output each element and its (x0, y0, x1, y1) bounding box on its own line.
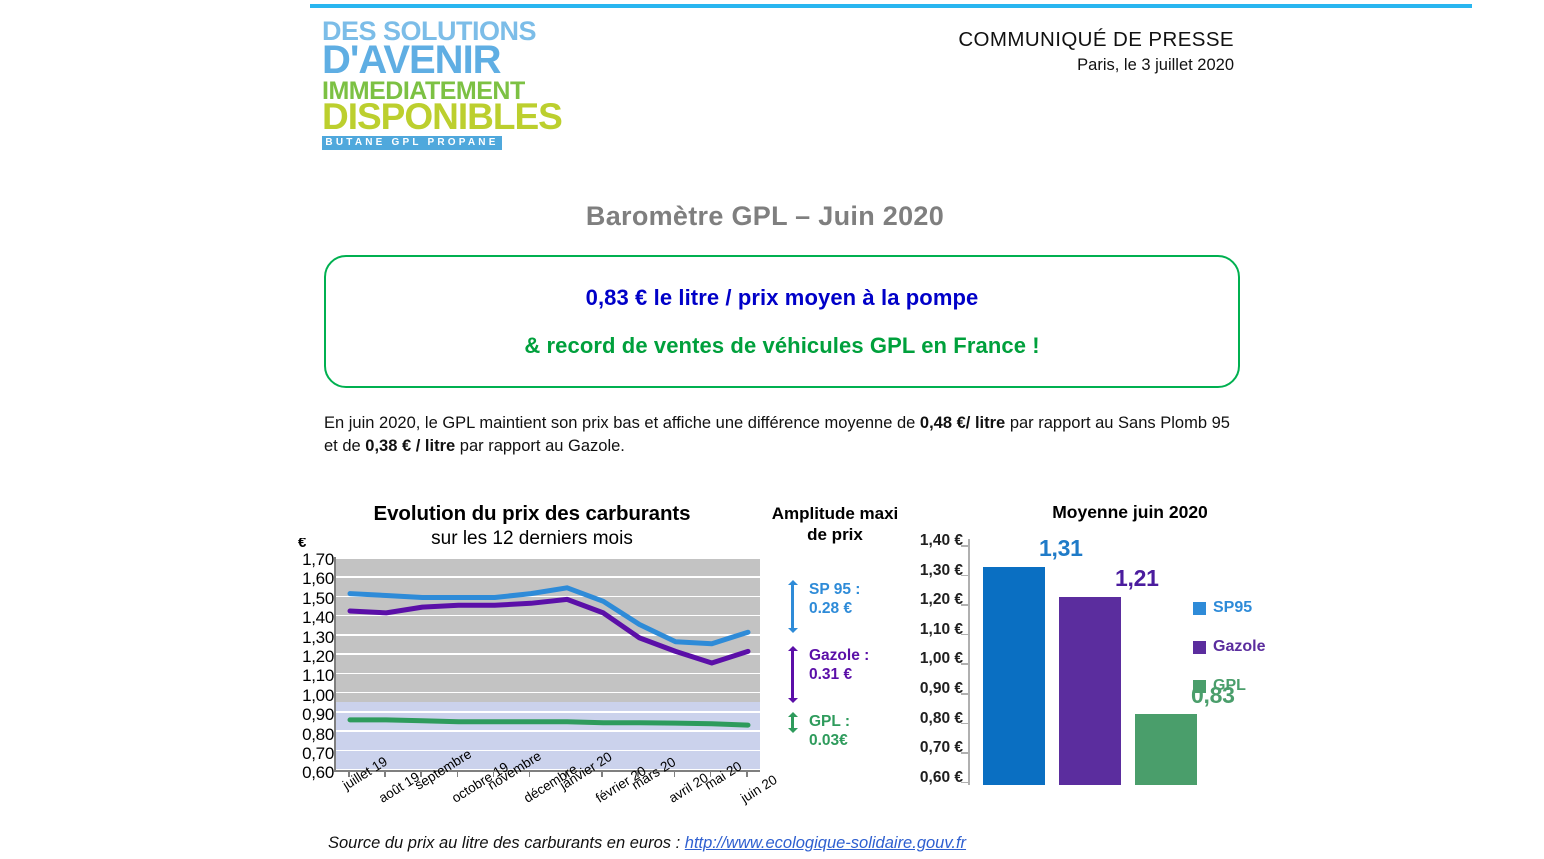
paragraph-text: En juin 2020, le GPL maintient son prix … (324, 414, 920, 432)
x-tick (529, 770, 531, 777)
line-chart-title: Evolution du prix des carburants (286, 502, 778, 526)
amplitude-title-line2: de prix (807, 525, 863, 544)
y-tick-label: 0,90 € (895, 681, 963, 697)
y-tick-label: 1,60 (286, 570, 334, 587)
y-tick-label: 0,70 (286, 745, 334, 762)
press-release-label: COMMUNIQUÉ DE PRESSE (958, 28, 1234, 52)
y-tick-label: 0,70 € (895, 740, 963, 756)
source-prefix: Source du prix au litre des carburants e… (328, 834, 685, 852)
arrow-shaft (791, 584, 794, 630)
y-tick (961, 634, 969, 636)
legend-label: Gazole (1213, 638, 1265, 656)
bar-chart: Moyenne juin 2020 1,40 €1,30 €1,20 €1,10… (895, 495, 1315, 815)
line-chart-x-labels: juillet 19août 19septembreoctobre 19nove… (286, 777, 778, 839)
arrow-head-down-icon (788, 728, 798, 733)
y-tick-label: 1,10 € (895, 622, 963, 638)
y-tick-label: 1,50 (286, 590, 334, 607)
double-arrow-icon (786, 713, 800, 733)
bar-chart-y-axis: 1,40 €1,30 €1,20 €1,10 €1,00 €0,90 €0,80… (895, 533, 963, 783)
intro-paragraph: En juin 2020, le GPL maintient son prix … (324, 412, 1240, 459)
y-tick-label: 1,20 (286, 648, 334, 665)
line-chart-subtitle: sur les 12 derniers mois (286, 528, 778, 550)
amplitude-legend: Amplitude maxi de prix SP 95 :0.28 €Gazo… (760, 495, 910, 755)
y-tick-label: 0,90 (286, 706, 334, 723)
arrow-head-down-icon (788, 698, 798, 703)
y-tick (961, 575, 969, 577)
line-series-sp95 (350, 588, 748, 644)
line-chart-plot-area (336, 557, 760, 769)
amplitude-item-value: 0.28 € (809, 600, 860, 619)
line-chart-y-axis-unit: € (298, 538, 306, 550)
y-tick (961, 693, 969, 695)
y-tick-label: 1,20 € (895, 592, 963, 608)
bar-gazole (1059, 597, 1121, 785)
logo-banner: BUTANE GPL PROPANE (322, 136, 502, 150)
line-series-gpl (350, 720, 748, 725)
bar-value-label: 1,31 (1039, 535, 1083, 562)
callout-line-price: 0,83 € le litre / prix moyen à la pompe (586, 285, 979, 311)
legend-item: Gazole (1193, 638, 1265, 656)
line-chart: Evolution du prix des carburants sur les… (286, 495, 778, 835)
y-tick-label: 1,30 € (895, 563, 963, 579)
x-tick (384, 770, 386, 777)
amplitude-item-name: SP 95 : (809, 581, 860, 600)
x-tick-label: juin 20 (738, 772, 780, 806)
y-tick (961, 545, 969, 547)
x-tick (457, 770, 459, 777)
logo-line-2: D'AVENIR (322, 41, 508, 80)
x-tick (674, 770, 676, 777)
line-series-gazole (350, 599, 748, 663)
line-chart-y-axis-line (334, 557, 336, 771)
page-title: Baromètre GPL – Juin 2020 (0, 201, 1544, 232)
line-chart-series-svg (336, 557, 760, 769)
amplitude-item: SP 95 :0.28 € (786, 581, 860, 633)
paragraph-emphasis: 0,38 € / litre (365, 437, 455, 455)
amplitude-title-line1: Amplitude maxi (772, 504, 899, 523)
amplitude-item-name: GPL : (809, 713, 850, 732)
y-tick-label: 1,10 (286, 667, 334, 684)
amplitude-item: GPL :0.03€ (786, 713, 850, 751)
legend-swatch (1193, 641, 1206, 654)
y-tick-label: 1,40 € (895, 533, 963, 549)
arrow-shaft (791, 650, 794, 700)
y-tick-label: 1,40 (286, 609, 334, 626)
charts-region: Evolution du prix des carburants sur les… (0, 495, 1544, 845)
highlight-callout-box: 0,83 € le litre / prix moyen à la pompe … (324, 255, 1240, 388)
callout-line-record: & record de ventes de véhicules GPL en F… (524, 333, 1039, 359)
line-chart-y-axis: 1,701,601,501,401,301,201,101,000,900,80… (286, 551, 334, 773)
y-tick (961, 663, 969, 665)
y-tick (961, 723, 969, 725)
amplitude-title: Amplitude maxi de prix (760, 503, 910, 546)
legend-label: SP95 (1213, 599, 1252, 617)
bar-chart-title: Moyenne juin 2020 (1005, 502, 1255, 523)
amplitude-item-value: 0.03€ (809, 732, 850, 751)
y-tick (961, 752, 969, 754)
paragraph-text: par rapport au Gazole. (455, 437, 625, 455)
bar-chart-plot-area: 1,311,210,83 (971, 539, 1231, 785)
bar-sp95 (983, 567, 1045, 785)
y-tick-label: 0,60 € (895, 770, 963, 786)
legend-swatch (1193, 602, 1206, 615)
y-tick-label: 1,70 (286, 551, 334, 568)
amplitude-item-text: GPL :0.03€ (809, 713, 850, 751)
legend-item: GPL (1193, 677, 1265, 695)
brand-logo: DES SOLUTIONS D'AVENIR IMMEDIATEMENT DIS… (322, 18, 508, 150)
header-accent-rule (310, 4, 1472, 8)
y-tick-label: 1,30 (286, 629, 334, 646)
y-tick (961, 782, 969, 784)
y-tick-label: 1,00 € (895, 651, 963, 667)
bar-chart-y-ticks (961, 539, 969, 785)
source-link[interactable]: http://www.ecologique-solidaire.gouv.fr (685, 834, 966, 852)
double-arrow-icon (786, 647, 800, 703)
legend-label: GPL (1213, 677, 1246, 695)
arrow-head-down-icon (788, 628, 798, 633)
press-release-header: COMMUNIQUÉ DE PRESSE Paris, le 3 juillet… (958, 28, 1234, 75)
amplitude-item: Gazole :0.31 € (786, 647, 869, 703)
amplitude-item-value: 0.31 € (809, 666, 869, 685)
y-tick-label: 0,80 € (895, 711, 963, 727)
x-tick (601, 770, 603, 777)
bar-value-label: 1,21 (1115, 565, 1159, 592)
double-arrow-icon (786, 581, 800, 633)
bar-gpl (1135, 714, 1197, 785)
source-note: Source du prix au litre des carburants e… (328, 834, 966, 853)
legend-item: SP95 (1193, 599, 1265, 617)
logo-line-4: DISPONIBLES (322, 99, 508, 135)
y-tick-label: 1,00 (286, 687, 334, 704)
amplitude-item-text: Gazole :0.31 € (809, 647, 869, 685)
x-tick (746, 770, 748, 777)
amplitude-item-name: Gazole : (809, 647, 869, 666)
bar-chart-legend: SP95GazoleGPL (1193, 599, 1265, 716)
amplitude-item-text: SP 95 :0.28 € (809, 581, 860, 619)
press-release-dateline: Paris, le 3 juillet 2020 (958, 56, 1234, 75)
y-tick (961, 604, 969, 606)
paragraph-emphasis: 0,48 €/ litre (920, 414, 1005, 432)
y-tick-label: 0,80 (286, 726, 334, 743)
page-title-text: Baromètre GPL – Juin 2020 (586, 201, 944, 232)
legend-swatch (1193, 680, 1206, 693)
